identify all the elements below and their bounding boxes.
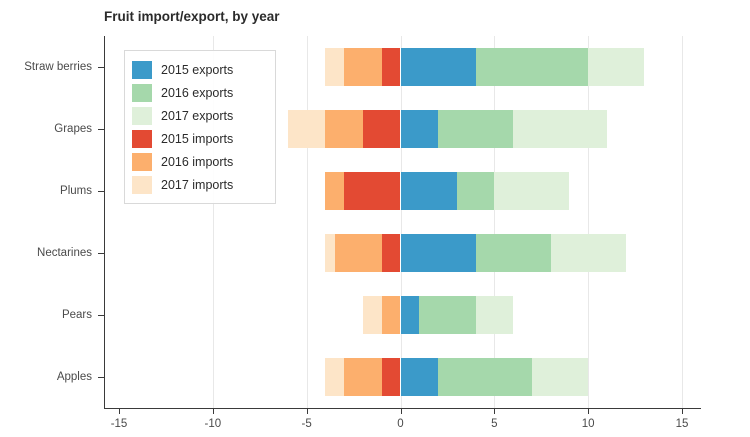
bar-segment[interactable] (588, 48, 644, 86)
bar-segment[interactable] (494, 172, 569, 210)
bar-segment[interactable] (325, 358, 344, 396)
legend-label: 2017 imports (161, 178, 233, 192)
x-tick-15 (682, 408, 683, 414)
x-tick-0 (401, 408, 402, 414)
y-tick-2 (98, 191, 104, 192)
x-axis-line (104, 408, 701, 409)
bar-segment[interactable] (325, 110, 363, 148)
gridline-x-15 (682, 36, 683, 408)
x-tick-label-0: 0 (397, 418, 403, 430)
gridline-x--5 (307, 36, 308, 408)
bar-segment[interactable] (401, 172, 457, 210)
bar-segment[interactable] (457, 172, 495, 210)
bar-segment[interactable] (344, 358, 382, 396)
legend-item[interactable]: 2015 exports (132, 58, 267, 81)
bar-segment[interactable] (438, 110, 513, 148)
bar-segment[interactable] (419, 296, 475, 334)
legend-label: 2015 exports (161, 63, 233, 77)
legend-swatch-icon (132, 84, 152, 102)
bar-segment[interactable] (476, 234, 551, 272)
y-axis-label-grapes: Grapes (0, 123, 92, 135)
legend-label: 2016 imports (161, 155, 233, 169)
y-tick-3 (98, 253, 104, 254)
bar-segment[interactable] (476, 296, 514, 334)
y-axis-label-nectarines: Nectarines (0, 247, 92, 259)
gridline-x-0 (401, 36, 402, 408)
legend-swatch-icon (132, 61, 152, 79)
y-axis-label-plums: Plums (0, 185, 92, 197)
legend-swatch-icon (132, 130, 152, 148)
bar-segment[interactable] (401, 296, 420, 334)
y-axis-label-pears: Pears (0, 309, 92, 321)
chart-legend[interactable]: 2015 exports2016 exports2017 exports2015… (124, 50, 276, 204)
x-tick-label-5: 5 (491, 418, 497, 430)
legend-label: 2016 exports (161, 86, 233, 100)
bar-segment[interactable] (401, 110, 439, 148)
bar-segment[interactable] (363, 296, 382, 334)
legend-label: 2017 exports (161, 109, 233, 123)
chart-container: Fruit import/export, by year -15-10-5051… (0, 0, 750, 437)
bar-segment[interactable] (476, 48, 589, 86)
x-tick-label-10: 10 (582, 418, 595, 430)
bar-segment[interactable] (401, 358, 439, 396)
gridline-x-10 (588, 36, 589, 408)
bar-segment[interactable] (513, 110, 607, 148)
bar-segment[interactable] (363, 110, 401, 148)
bar-segment[interactable] (532, 358, 588, 396)
x-tick--5 (307, 408, 308, 414)
legend-label: 2015 imports (161, 132, 233, 146)
legend-swatch-icon (132, 176, 152, 194)
legend-item[interactable]: 2017 imports (132, 173, 267, 196)
legend-swatch-icon (132, 153, 152, 171)
y-tick-0 (98, 67, 104, 68)
bar-segment[interactable] (382, 358, 401, 396)
bar-segment[interactable] (382, 234, 401, 272)
bar-segment[interactable] (344, 48, 382, 86)
x-tick-label--5: -5 (302, 418, 312, 430)
gridline-x-5 (494, 36, 495, 408)
x-tick-10 (588, 408, 589, 414)
bar-segment[interactable] (325, 234, 334, 272)
chart-title: Fruit import/export, by year (104, 9, 280, 24)
x-tick--15 (119, 408, 120, 414)
legend-item[interactable]: 2016 exports (132, 81, 267, 104)
y-axis-label-apples: Apples (0, 371, 92, 383)
y-axis-line (104, 36, 105, 408)
bar-segment[interactable] (325, 172, 344, 210)
x-tick--10 (213, 408, 214, 414)
legend-swatch-icon (132, 107, 152, 125)
bar-segment[interactable] (335, 234, 382, 272)
bar-segment[interactable] (438, 358, 532, 396)
x-tick-label-15: 15 (676, 418, 689, 430)
bar-segment[interactable] (325, 48, 344, 86)
bar-segment[interactable] (401, 48, 476, 86)
y-tick-1 (98, 129, 104, 130)
y-tick-5 (98, 377, 104, 378)
bar-segment[interactable] (344, 172, 400, 210)
legend-item[interactable]: 2017 exports (132, 104, 267, 127)
bar-segment[interactable] (382, 48, 401, 86)
bar-segment[interactable] (551, 234, 626, 272)
legend-item[interactable]: 2015 imports (132, 127, 267, 150)
y-tick-4 (98, 315, 104, 316)
y-axis-label-straw-berries: Straw berries (0, 61, 92, 73)
x-tick-5 (494, 408, 495, 414)
x-tick-label--15: -15 (111, 418, 128, 430)
x-tick-label--10: -10 (205, 418, 222, 430)
legend-item[interactable]: 2016 imports (132, 150, 267, 173)
bar-segment[interactable] (401, 234, 476, 272)
bar-segment[interactable] (382, 296, 401, 334)
bar-segment[interactable] (288, 110, 326, 148)
